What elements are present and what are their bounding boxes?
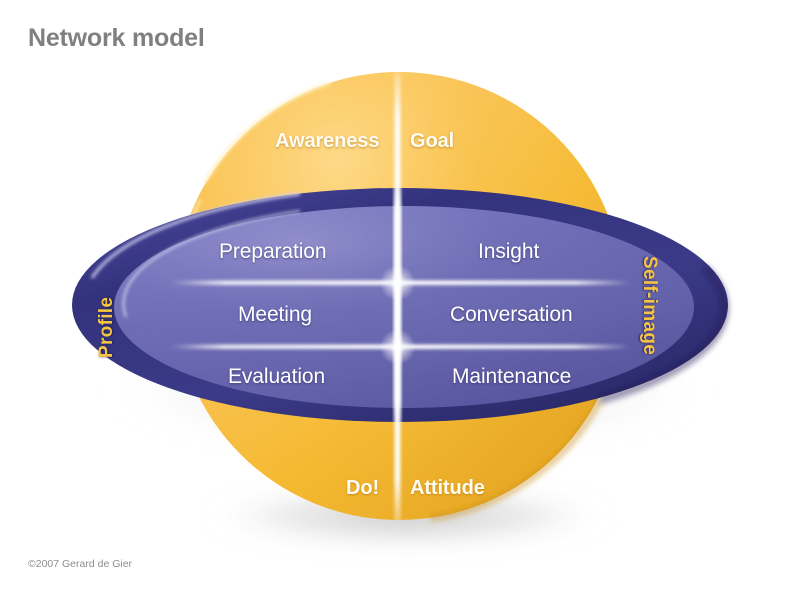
cross-glow-lower: [380, 329, 416, 365]
network-model-diagram: Network model: [0, 0, 800, 600]
copyright-note: ©2007 Gerard de Gier: [28, 558, 132, 570]
cross-glow-upper: [380, 265, 416, 301]
vertical-divider-purple: [395, 188, 401, 422]
diagram-canvas: [0, 0, 800, 600]
